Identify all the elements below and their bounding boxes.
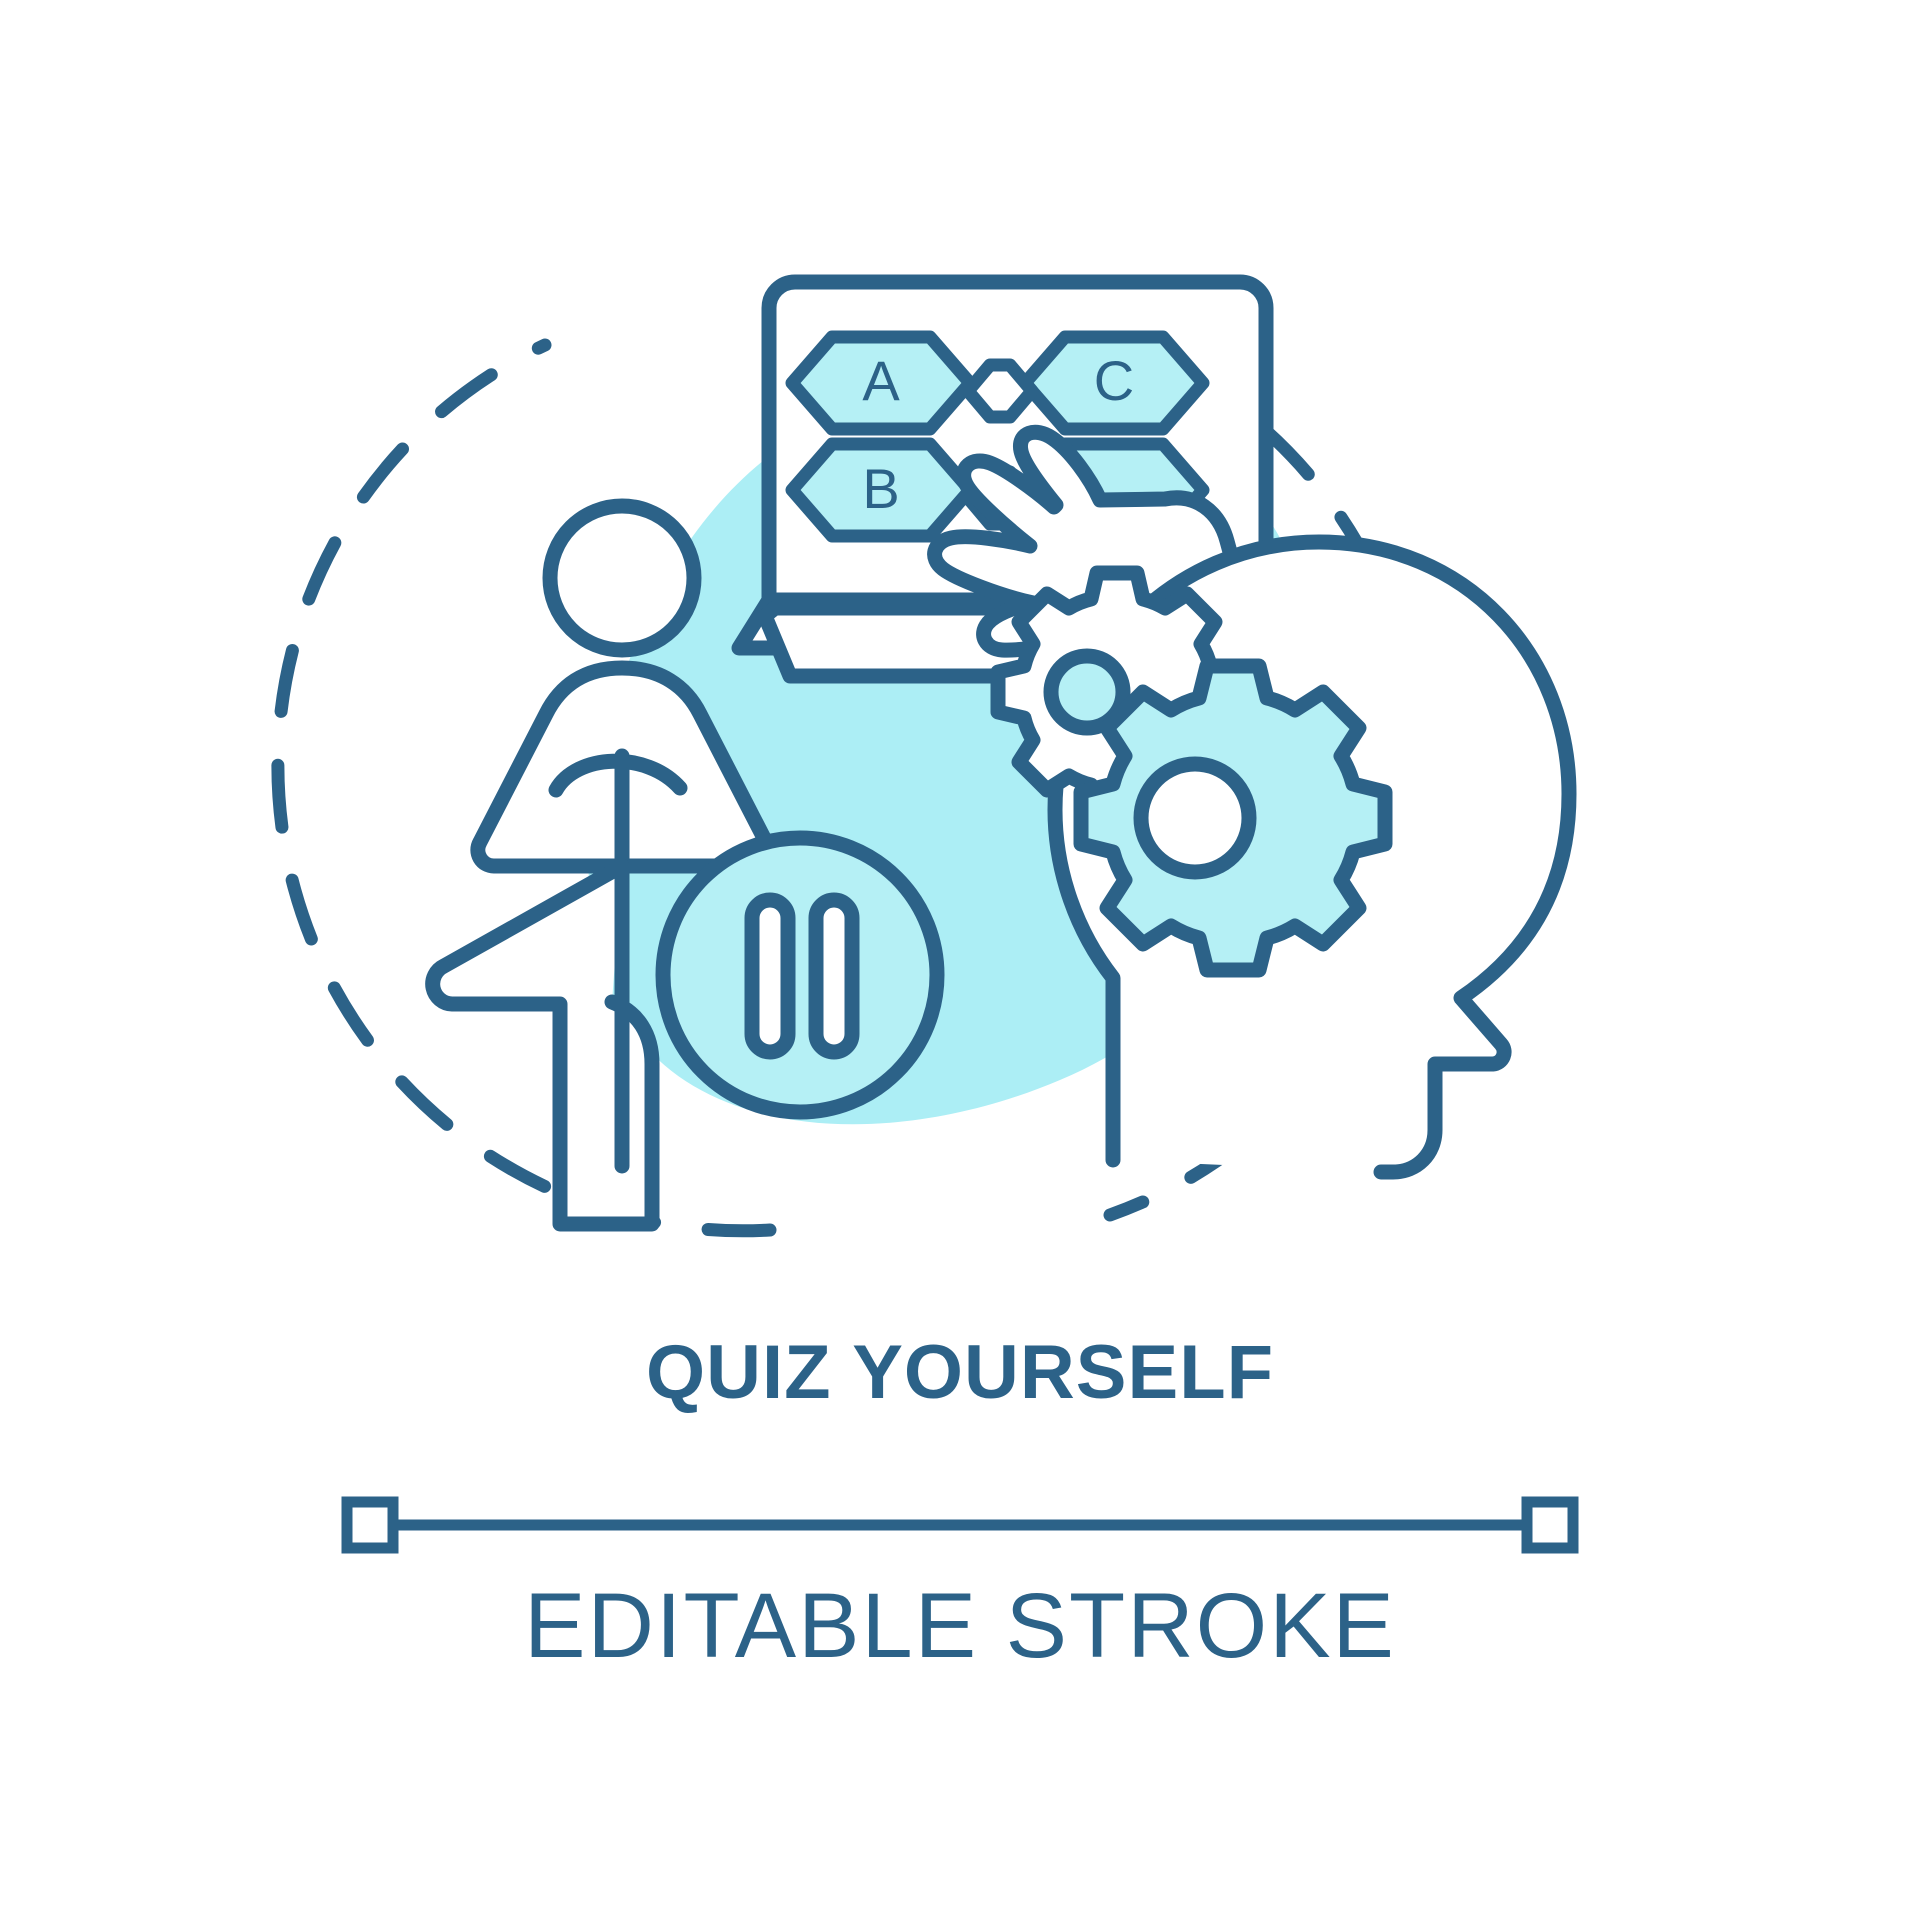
option-letter-c: C: [1094, 349, 1134, 412]
pause-button-badge: [663, 838, 937, 1112]
seated-person-legs: [433, 866, 652, 1224]
svg-text:A: A: [862, 349, 900, 412]
concept-title-block: QUIZ YOURSELF: [0, 1335, 1920, 1411]
concept-title: QUIZ YOURSELF: [0, 1335, 1920, 1411]
option-letter-b: B: [862, 457, 899, 520]
divider-node-left: [347, 1502, 393, 1548]
illustration-area: A B C: [0, 0, 1920, 1340]
gear-large-icon: [1081, 666, 1385, 970]
concept-icon-page: A B C: [0, 0, 1920, 1920]
divider-block: [0, 1490, 1920, 1560]
subtitle: EDITABLE STROKE: [0, 1580, 1920, 1672]
subtitle-block: EDITABLE STROKE: [0, 1580, 1920, 1672]
seated-person-head: [550, 506, 694, 650]
svg-text:B: B: [862, 457, 899, 520]
divider-node-right: [1527, 1502, 1573, 1548]
option-letter-a: A: [862, 349, 900, 412]
svg-text:C: C: [1094, 349, 1134, 412]
